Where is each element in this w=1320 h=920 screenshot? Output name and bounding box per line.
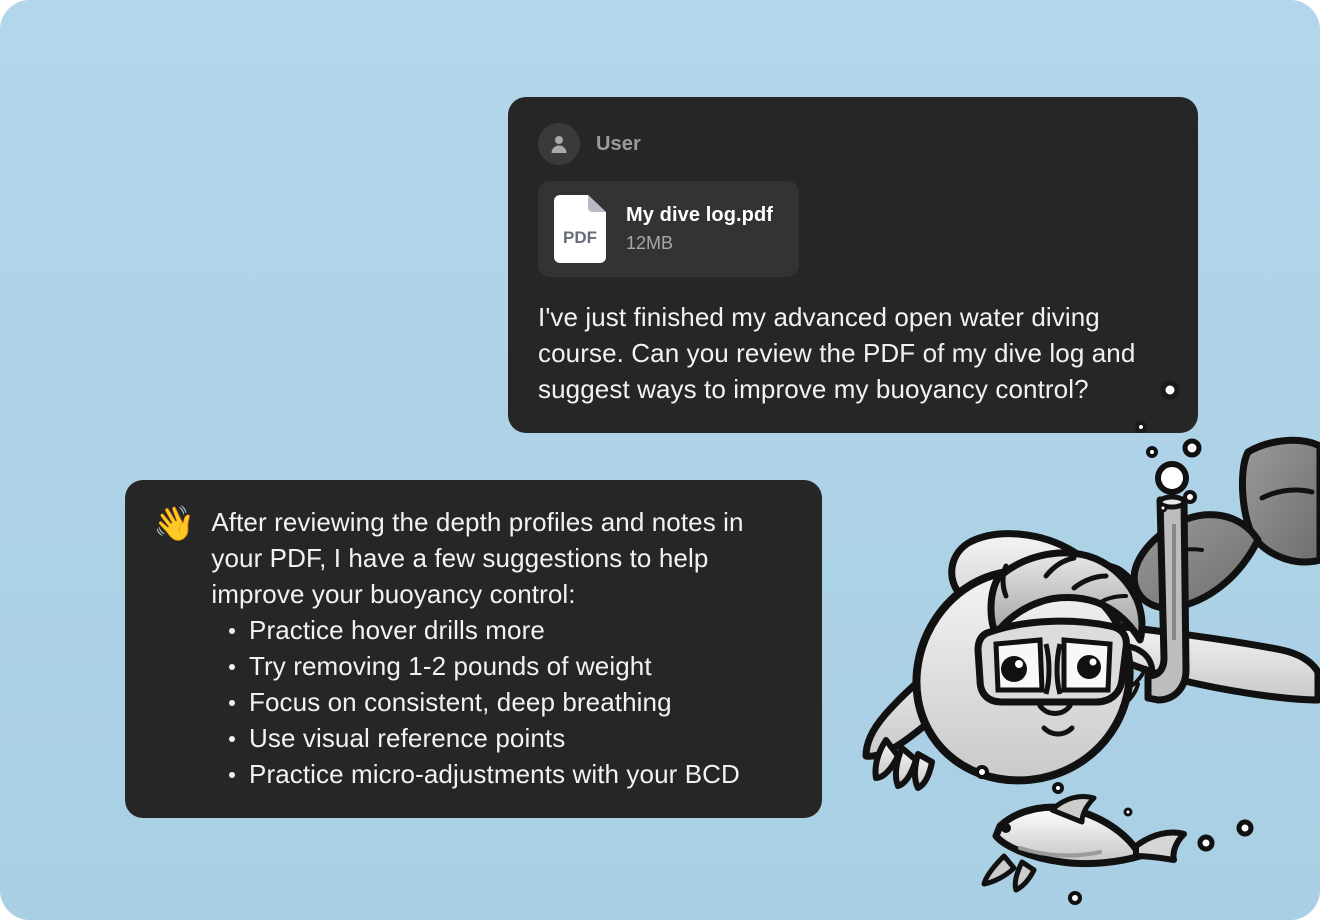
- suggestion-item: Focus on consistent, deep breathing: [227, 684, 796, 720]
- attachment-card[interactable]: PDF My dive log.pdf 12MB: [538, 181, 799, 277]
- diver-figure: [866, 440, 1320, 788]
- attachment-filename: My dive log.pdf: [626, 204, 773, 227]
- assistant-message-bubble: 👋 After reviewing the depth profiles and…: [125, 480, 822, 818]
- suggestion-item: Try removing 1-2 pounds of weight: [227, 648, 796, 684]
- user-message-header: User: [538, 123, 1170, 165]
- avatar: [538, 123, 580, 165]
- waving-hand-emoji: 👋: [153, 506, 195, 542]
- suggestion-list: Practice hover drills moreTry removing 1…: [153, 612, 796, 792]
- suggestion-item: Practice hover drills more: [227, 612, 796, 648]
- assistant-intro-row: 👋 After reviewing the depth profiles and…: [153, 504, 796, 612]
- suggestion-item: Practice micro-adjustments with your BCD: [227, 756, 796, 792]
- pdf-icon-label: PDF: [563, 228, 597, 247]
- user-message-text: I've just finished my advanced open wate…: [538, 299, 1170, 407]
- attachment-filesize: 12MB: [626, 233, 773, 254]
- air-bubbles-group: [977, 441, 1251, 903]
- user-message-bubble: User PDF My dive log.pdf 12MB I've just …: [508, 97, 1198, 433]
- fish-figure: [984, 797, 1184, 891]
- screenshot-root: User PDF My dive log.pdf 12MB I've just …: [0, 0, 1320, 920]
- attachment-meta: My dive log.pdf 12MB: [626, 204, 773, 254]
- suggestion-item: Use visual reference points: [227, 720, 796, 756]
- assistant-intro-text: After reviewing the depth profiles and n…: [211, 504, 796, 612]
- person-icon: [547, 132, 571, 156]
- pdf-file-icon: PDF: [554, 195, 606, 263]
- message-author-label: User: [596, 133, 641, 156]
